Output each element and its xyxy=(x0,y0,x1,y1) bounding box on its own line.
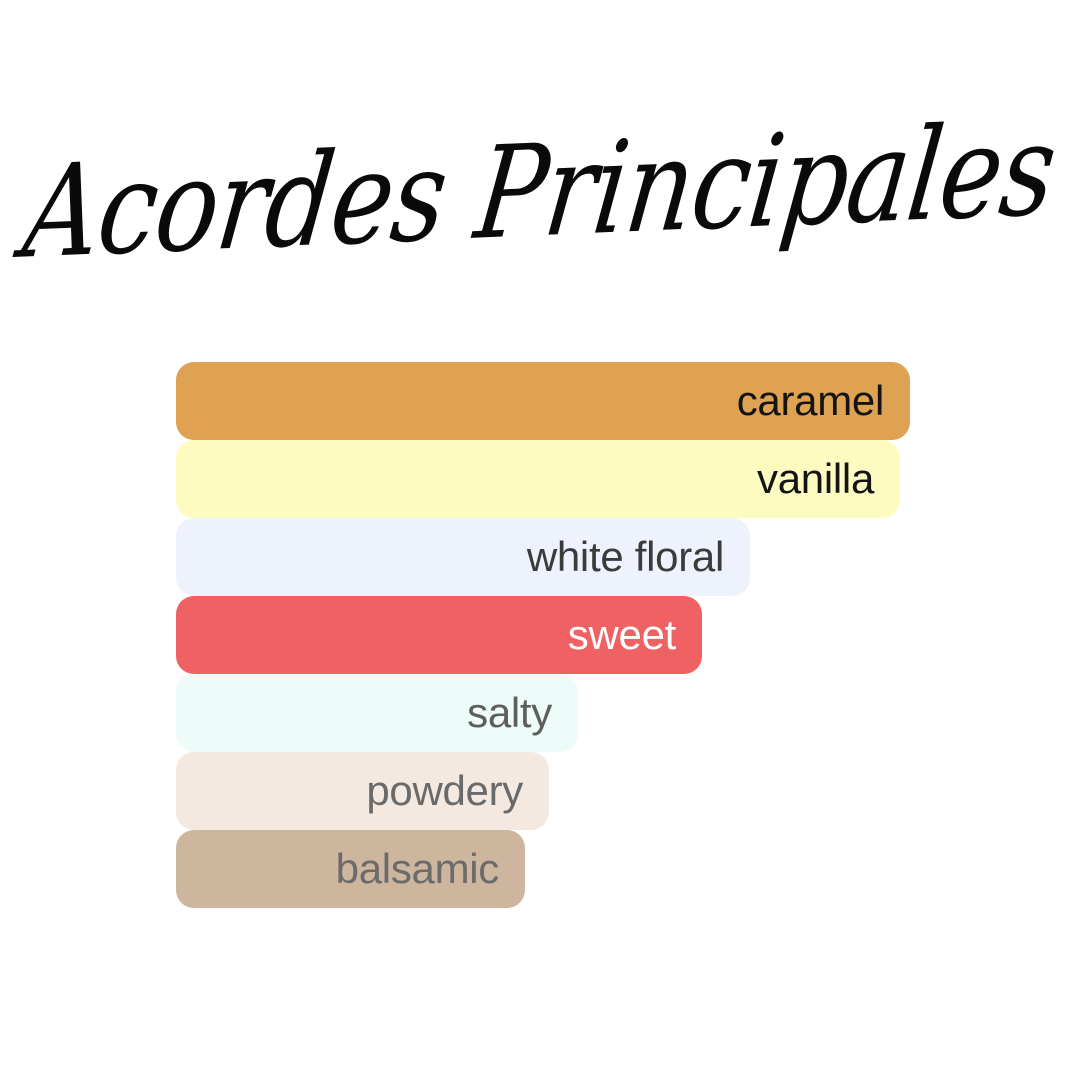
page-title: Acordes Principales xyxy=(0,96,1080,286)
bar-row: salty xyxy=(176,674,936,752)
bar-row: powdery xyxy=(176,752,936,830)
accord-bar-label: sweet xyxy=(568,614,676,656)
accord-bar[interactable]: balsamic xyxy=(176,830,525,908)
accords-bar-chart: caramelvanillawhite floralsweetsaltypowd… xyxy=(176,362,936,908)
page-title-text: Acordes Principales xyxy=(18,106,1061,277)
accord-bar[interactable]: salty xyxy=(176,674,578,752)
bar-row: sweet xyxy=(176,596,936,674)
accord-bar[interactable]: caramel xyxy=(176,362,910,440)
accord-bar-label: powdery xyxy=(366,770,523,812)
accord-bar[interactable]: powdery xyxy=(176,752,549,830)
accord-bar[interactable]: sweet xyxy=(176,596,702,674)
bar-row: caramel xyxy=(176,362,936,440)
accord-bar-label: vanilla xyxy=(757,458,874,500)
accord-bar-label: balsamic xyxy=(336,848,499,890)
accord-bar-label: salty xyxy=(467,692,552,734)
bar-row: white floral xyxy=(176,518,936,596)
accord-bar[interactable]: white floral xyxy=(176,518,750,596)
accord-bar[interactable]: vanilla xyxy=(176,440,900,518)
accord-bar-label: white floral xyxy=(527,536,724,578)
perfume-accords-card: Acordes Principales caramelvanillawhite … xyxy=(0,0,1080,1080)
accord-bar-label: caramel xyxy=(737,380,884,422)
bar-row: balsamic xyxy=(176,830,936,908)
bar-row: vanilla xyxy=(176,440,936,518)
